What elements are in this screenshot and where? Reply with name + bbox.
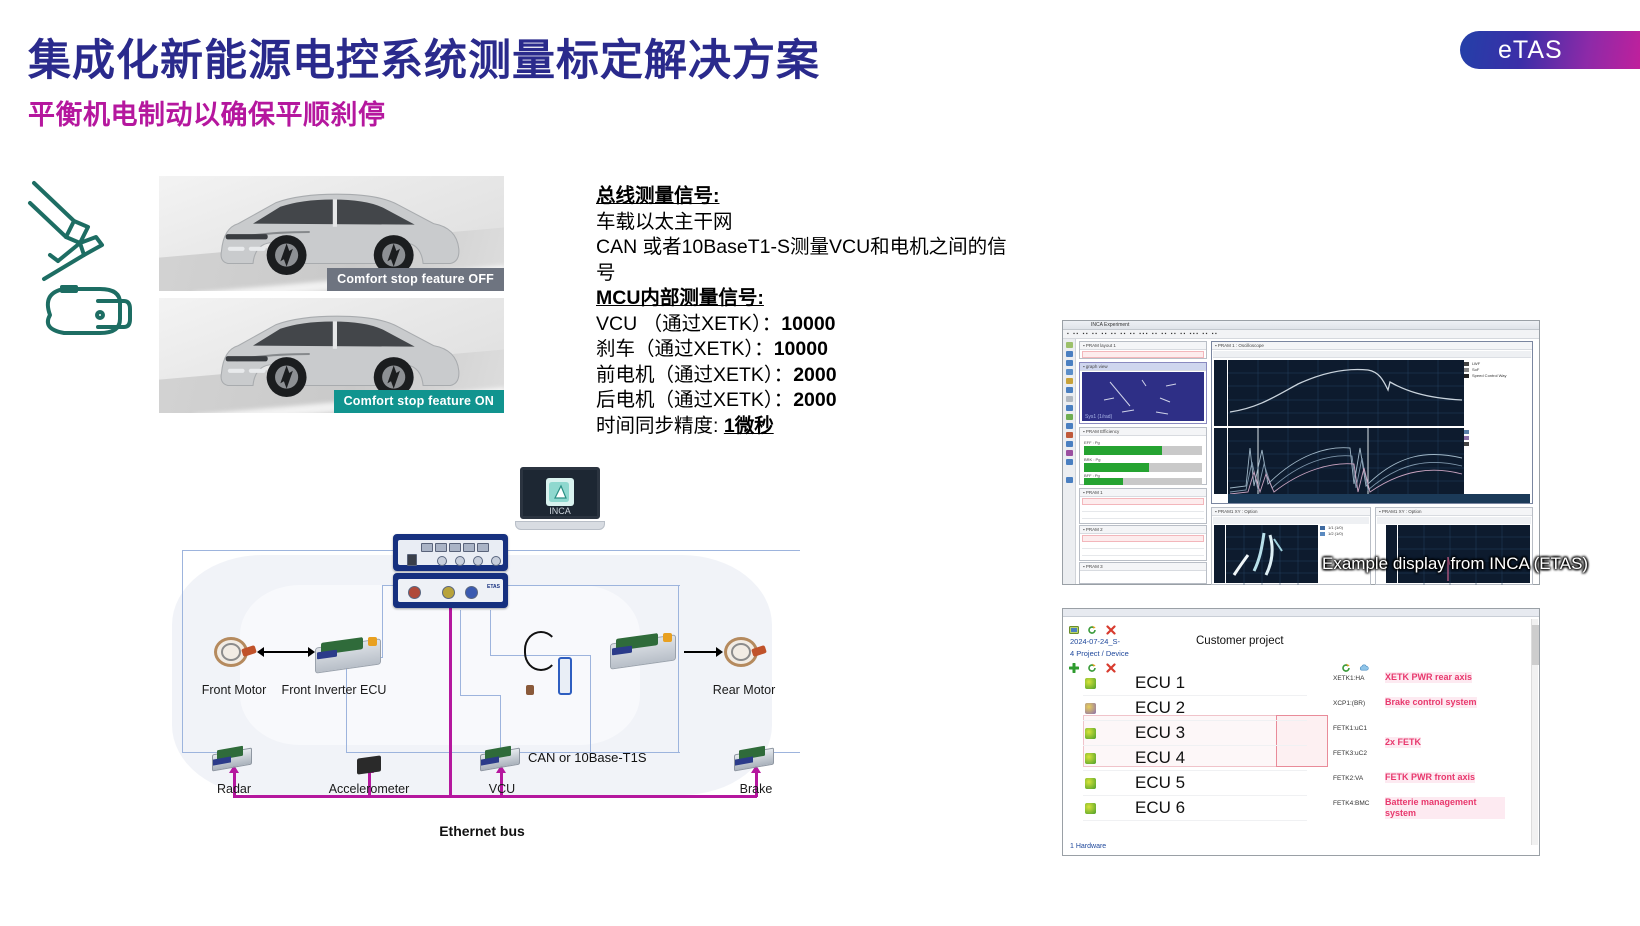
hardware-icon[interactable] <box>1069 625 1079 635</box>
sync-row: 时间同步精度: 1微秒 <box>596 414 1046 440</box>
ecu-name: ECU 1 <box>1135 673 1185 693</box>
chart-legend-bottom <box>1464 428 1530 494</box>
wire-segment <box>460 610 461 695</box>
device-code: FETK3:uC2 <box>1333 750 1367 757</box>
chart-area <box>1226 525 1318 583</box>
wire-segment <box>182 550 394 551</box>
brake-icon <box>734 747 778 773</box>
refresh-icon[interactable] <box>1341 663 1351 673</box>
sync-label: 时间同步精度: <box>596 415 718 437</box>
page-subtitle: 平衡机电制动以确保平顺刹停 <box>28 93 386 132</box>
measurement-spec-text: 总线测量信号: 车载以太主干网 CAN 或者10BaseT1-S测量VCU和电机… <box>596 184 1046 439</box>
bus-line-3: 号 <box>596 261 1046 287</box>
panel-titlebar <box>1063 609 1539 617</box>
device-code: XETK1:HA <box>1333 675 1364 682</box>
inca-bargraph-window[interactable]: ▪ PRAM Efficiency EFF : Pg BRK : Pg BFF … <box>1079 427 1207 485</box>
ecu-name: ECU 3 <box>1135 723 1185 743</box>
window-header: ▪ PRAM1 XY : Option <box>1212 508 1370 516</box>
bus-signal-heading: 总线测量信号: <box>596 184 1046 210</box>
value-row <box>1082 535 1204 542</box>
wire-segment <box>500 695 501 753</box>
front-motor-icon <box>210 633 256 673</box>
bar-track <box>1084 478 1202 485</box>
inca-menubar[interactable]: ▪ ▪▪ ▪▪ ▪▪ ▪▪ ▪▪ ▪▪ ▪▪ ▪▪▪ ▪▪ ▪▪ ▪▪ ▪▪ ▪… <box>1063 330 1539 339</box>
ecu-list[interactable]: ECU 1 ECU 2 ECU 3 ECU 4 ECU 5 ECU 6 <box>1083 671 1307 821</box>
value-row <box>1082 543 1204 549</box>
ecu-list-item[interactable]: ECU 6 <box>1083 796 1307 821</box>
inca-oscilloscope-window[interactable]: ▪ graph view Sys1 (1/rad) <box>1079 362 1207 424</box>
network-topology-diagram: ETAS INCA Front Motor Front Inverter ECU <box>160 455 800 865</box>
cloud-icon[interactable] <box>1359 663 1369 673</box>
ecu-list-item[interactable]: ECU 2 <box>1083 696 1307 721</box>
device-description: 2x FETK <box>1385 737 1421 748</box>
spec-row-label: 刹车（通过XETK）： <box>596 338 774 360</box>
bar-track <box>1084 463 1202 472</box>
inca-numeric-window-3[interactable]: ▪ PRAM 3 <box>1079 562 1207 584</box>
brake-pedal-icon <box>30 183 102 279</box>
wire-segment <box>182 550 183 752</box>
vehicle-inner-outline <box>240 585 640 745</box>
window-header: ▪ PRAM1 XY : Option <box>1376 508 1532 516</box>
spec-row-value: 10000 <box>781 313 835 335</box>
device-code: FETK4:BMC <box>1333 800 1369 807</box>
device-code: FETK2:VA <box>1333 775 1363 782</box>
device-code: FETK1:uC1 <box>1333 725 1367 732</box>
scope-canvas: Sys1 (1/rad) <box>1082 372 1204 421</box>
device-code: XCP1:(BR) <box>1333 700 1365 707</box>
ecu-status-icon <box>1085 728 1096 739</box>
inca-sidebar-toolbar[interactable] <box>1063 339 1076 584</box>
value-row <box>1082 498 1204 505</box>
bus-line-1: 车载以太主干网 <box>596 210 1046 236</box>
rear-motor-link-arrow <box>684 651 716 653</box>
vcu-icon <box>480 747 524 773</box>
es-measurement-module-top <box>393 534 508 571</box>
ecu-name: ECU 2 <box>1135 698 1185 718</box>
value-row <box>1082 550 1204 556</box>
chart-legend-top: LWF SoF Speed Control Way <box>1464 360 1530 426</box>
ecu-list-item[interactable]: ECU 3 <box>1083 721 1307 746</box>
mcu-signal-heading: MCU内部测量信号: <box>596 286 1046 312</box>
accelerometer-icon <box>355 755 385 777</box>
rear-motor-icon <box>720 633 766 673</box>
bar-fill <box>1084 478 1123 485</box>
value-row <box>1082 513 1204 519</box>
chart-y-axis-top <box>1214 360 1227 426</box>
spec-row-label: VCU （通过XETK）： <box>596 313 781 335</box>
scrollbar-thumb[interactable] <box>1532 625 1539 665</box>
window-header: ▪ graph view <box>1080 363 1206 371</box>
spec-row: 刹车（通过XETK）：10000 <box>596 337 1046 363</box>
wire-segment <box>508 550 800 551</box>
inca-screenshot-panel[interactable]: INCA Experiment ▪ ▪▪ ▪▪ ▪▪ ▪▪ ▪▪ ▪▪ ▪▪ ▪… <box>1062 320 1540 585</box>
rear-inverter-ecu-icon <box>610 633 680 673</box>
chart-toolbar[interactable] <box>1377 517 1531 524</box>
node-label-rear-motor: Rear Motor <box>713 683 776 697</box>
spec-row-value: 10000 <box>774 338 828 360</box>
inca-calibration-window[interactable]: ▪ PRAM layout 1 <box>1079 341 1207 359</box>
window-header: ▪ PRAM 3 <box>1080 563 1206 571</box>
bar-fill <box>1084 463 1149 472</box>
scope-traces: Sys1 (1/rad) <box>1082 372 1206 422</box>
inca-laptop: INCA <box>515 467 605 537</box>
project-device-node: 4 Project / Device <box>1070 649 1129 658</box>
customer-project-title: Customer project <box>1196 635 1284 647</box>
node-label-accelerometer: Accelerometer <box>329 782 410 796</box>
can-probe-icon <box>524 631 572 697</box>
feature-icons <box>22 175 142 365</box>
etas-logo-text: eTAS <box>1498 36 1563 65</box>
inca-main-chart-window[interactable]: ▪ PRAM 1 : Oscilloscope <box>1211 341 1533 504</box>
device-description: XETK PWR rear axis <box>1385 672 1472 683</box>
car-image-feature-on: Comfort stop feature ON <box>159 298 504 413</box>
add-icon[interactable] <box>1069 663 1079 673</box>
chart-y-axis <box>1214 525 1225 583</box>
laptop-app-label: INCA <box>523 506 597 516</box>
icon-svg-group <box>22 175 142 365</box>
window-header: ▪ PRAM layout 1 <box>1080 342 1206 350</box>
chart-toolbar[interactable] <box>1213 351 1531 358</box>
inca-app-icon <box>546 478 574 506</box>
hardware-node-label: 1 Hardware <box>1070 843 1106 850</box>
chart-y-axis-bottom <box>1214 428 1227 494</box>
node-label-radar: Radar <box>217 782 251 796</box>
ecu-name: ECU 4 <box>1135 748 1185 768</box>
hardware-toolbar[interactable] <box>1069 621 1120 633</box>
spec-row-label: 前电机（通过XETK）： <box>596 364 793 386</box>
node-label-vcu: VCU <box>489 782 515 796</box>
ecu-name: ECU 6 <box>1135 798 1185 818</box>
bus-line-2: CAN 或者10BaseT1-S测量VCU和电机之间的信 <box>596 235 1046 261</box>
spec-row: VCU （通过XETK）：10000 <box>596 312 1046 338</box>
laptop-screen: INCA <box>520 467 600 519</box>
ecu-status-icon <box>1085 753 1096 764</box>
inca-caption: Example display from INCA (ETAS) <box>1322 554 1588 574</box>
ecu-name: ECU 5 <box>1135 773 1185 793</box>
ecu-list-item[interactable]: ECU 1 <box>1083 671 1307 696</box>
window-header: ▪ PRAM 1 : Oscilloscope <box>1212 342 1532 350</box>
project-date-label: 2024-07-24_S- <box>1070 637 1120 646</box>
ecu-status-icon <box>1085 803 1096 814</box>
ecu-hardware-config-panel[interactable]: 2024-07-24_S- Customer project 4 Project… <box>1062 608 1540 856</box>
ethernet-bus-riser <box>449 585 452 798</box>
signal-trace-bottom <box>1228 428 1464 494</box>
window-header: ▪ PRAM 2 <box>1080 526 1206 534</box>
panel-scrollbar[interactable] <box>1531 619 1538 845</box>
bar-track <box>1084 446 1202 455</box>
spec-row-value: 2000 <box>793 364 836 386</box>
ecu-status-icon <box>1085 703 1096 714</box>
inca-numeric-window-2[interactable]: ▪ PRAM 2 <box>1079 525 1207 561</box>
chart-time-scrollbar[interactable] <box>1228 494 1530 503</box>
wire-segment <box>460 695 500 696</box>
device-toolbar[interactable] <box>1069 659 1120 671</box>
chart-toolbar[interactable] <box>1213 517 1369 524</box>
car-comparison-images: Comfort stop feature OFF <box>159 176 504 413</box>
page-title: 集成化新能源电控系统测量标定解决方案 <box>28 26 820 88</box>
chart-area-bottom <box>1228 428 1464 494</box>
car-label-on: Comfort stop feature ON <box>334 390 504 413</box>
ecu-list-item[interactable]: ECU 4 <box>1083 746 1307 771</box>
window-header: ▪ PRAM Efficiency <box>1080 428 1206 436</box>
wire-segment <box>590 655 591 753</box>
device-description: Brake control system <box>1385 697 1477 708</box>
device-description: FETK PWR front axis <box>1385 772 1475 783</box>
front-inverter-ecu-icon <box>315 637 385 677</box>
sync-value: 1微秒 <box>724 415 774 437</box>
can-bus-label: CAN or 10Base-T1S <box>528 750 647 765</box>
value-row <box>1082 351 1204 358</box>
inca-window-titlebar: INCA Experiment <box>1063 321 1539 330</box>
signal-trace-top <box>1228 360 1464 426</box>
device-description: Batterie management system <box>1385 797 1505 819</box>
brake-caliper-icon <box>48 287 130 333</box>
spec-row-label: 后电机（通过XETK）： <box>596 389 793 411</box>
ethernet-bus-label: Ethernet bus <box>439 823 525 839</box>
front-motor-link-arrow <box>264 651 308 653</box>
bar-fill <box>1084 446 1162 455</box>
laptop-base <box>515 521 605 530</box>
car-image-feature-off: Comfort stop feature OFF <box>159 176 504 291</box>
es-measurement-module-bottom: ETAS <box>393 573 508 608</box>
window-header: ▪ PRAM 1 <box>1080 489 1206 497</box>
etas-logo: eTAS <box>1460 31 1640 69</box>
wire-segment <box>490 610 491 655</box>
ecu-status-icon <box>1085 778 1096 789</box>
radar-icon <box>212 747 256 773</box>
node-label-brake: Brake <box>740 782 773 796</box>
spec-row: 后电机（通过XETK）：2000 <box>596 388 1046 414</box>
chart-area-top <box>1228 360 1464 426</box>
device-column-toolbar[interactable] <box>1341 659 1373 671</box>
slide-root: 集成化新能源电控系统测量标定解决方案 平衡机电制动以确保平顺刹停 eTAS <box>0 0 1640 926</box>
delete-icon[interactable] <box>1106 625 1116 635</box>
wire-segment <box>508 585 680 586</box>
spec-row-value: 2000 <box>793 389 836 411</box>
spec-row: 前电机（通过XETK）：2000 <box>596 363 1046 389</box>
svg-text:Sys1 (1/rad): Sys1 (1/rad) <box>1085 414 1113 420</box>
refresh-icon[interactable] <box>1087 625 1097 635</box>
node-label-front-inverter-ecu: Front Inverter ECU <box>282 683 387 697</box>
car-label-off: Comfort stop feature OFF <box>327 268 504 291</box>
ecu-status-icon <box>1085 678 1096 689</box>
inca-numeric-window-1[interactable]: ▪ PRAM 1 <box>1079 488 1207 524</box>
ecu-list-item[interactable]: ECU 5 <box>1083 771 1307 796</box>
xy-trace <box>1226 525 1318 585</box>
value-row <box>1082 506 1204 512</box>
node-label-front-motor: Front Motor <box>202 683 267 697</box>
